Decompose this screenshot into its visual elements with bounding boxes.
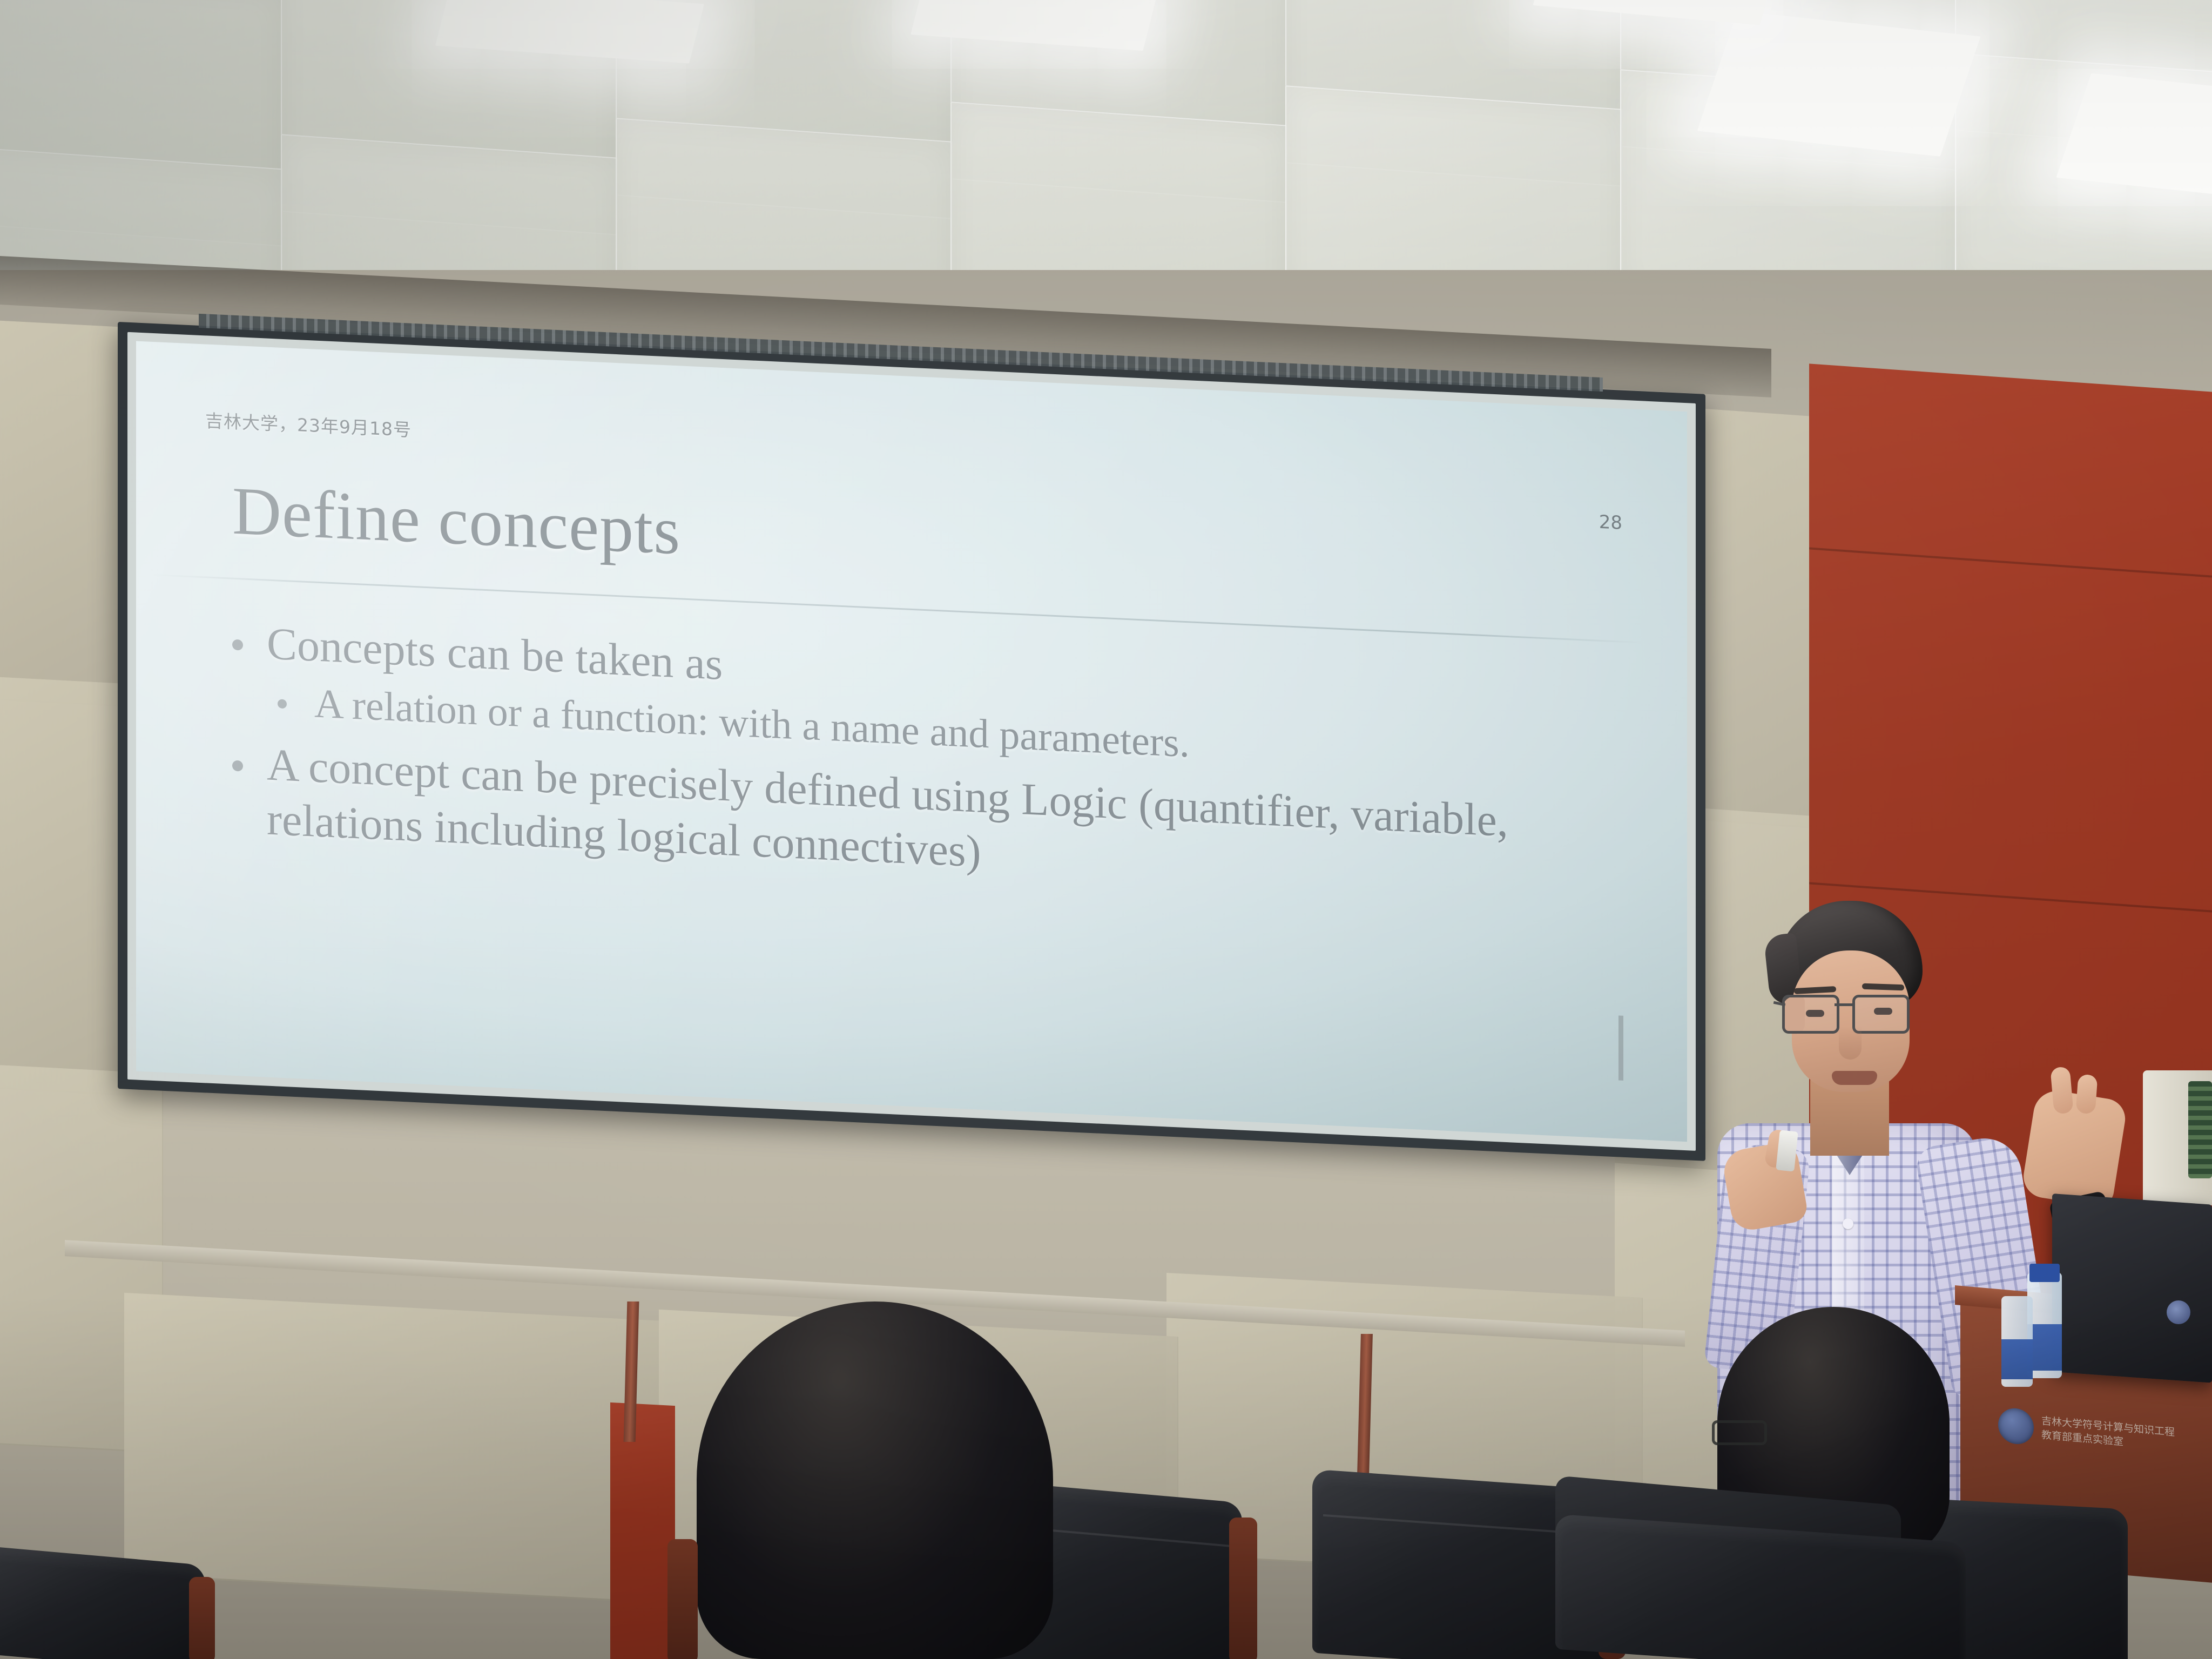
presenter-mouth <box>1832 1071 1877 1085</box>
bottle-cap <box>2029 1264 2060 1282</box>
presenter-right-hand <box>2020 1088 2128 1209</box>
bottle-label <box>2001 1339 2033 1379</box>
chair-armrest-wood <box>189 1577 215 1659</box>
lecture-hall-photo: 吉林大学，23年9月18号 28 Define concepts Concept… <box>0 0 2212 1659</box>
audience-eyeglasses <box>1712 1420 1767 1445</box>
slide-title: Define concepts <box>232 473 680 571</box>
wall-panel <box>0 677 131 1096</box>
wall-panel <box>124 1293 665 1604</box>
eyeglasses <box>1782 995 1923 1029</box>
slide-header-text: 吉林大学，23年9月18号 <box>205 406 412 441</box>
air-conditioner-vent <box>2188 1081 2212 1178</box>
chair-armrest-wood <box>1229 1518 1257 1659</box>
monitor-logo-icon <box>2167 1300 2190 1324</box>
audience-member-front-head <box>697 1301 1053 1659</box>
slide-bullet-list: Concepts can be taken as A relation or a… <box>217 615 1648 915</box>
auditorium-chair <box>0 1546 205 1659</box>
red-wall-panel <box>610 1402 675 1659</box>
presenter-finger <box>2076 1074 2098 1114</box>
university-logo-icon <box>1998 1407 2034 1446</box>
desk-monitor[interactable] <box>2052 1193 2212 1383</box>
slide-surface: 吉林大学，23年9月18号 28 Define concepts Concept… <box>136 341 1687 1142</box>
presenter-nose <box>1839 1026 1862 1060</box>
ceiling-light-panel <box>1697 11 1981 156</box>
projection-screen[interactable]: 吉林大学，23年9月18号 28 Define concepts Concept… <box>118 322 1705 1161</box>
wall-panel <box>0 321 131 707</box>
text-cursor-caret <box>1618 1015 1623 1080</box>
slide-page-number: 28 <box>1599 511 1622 534</box>
shirt-button <box>1843 1218 1853 1229</box>
chair-armrest-wood <box>667 1539 698 1659</box>
